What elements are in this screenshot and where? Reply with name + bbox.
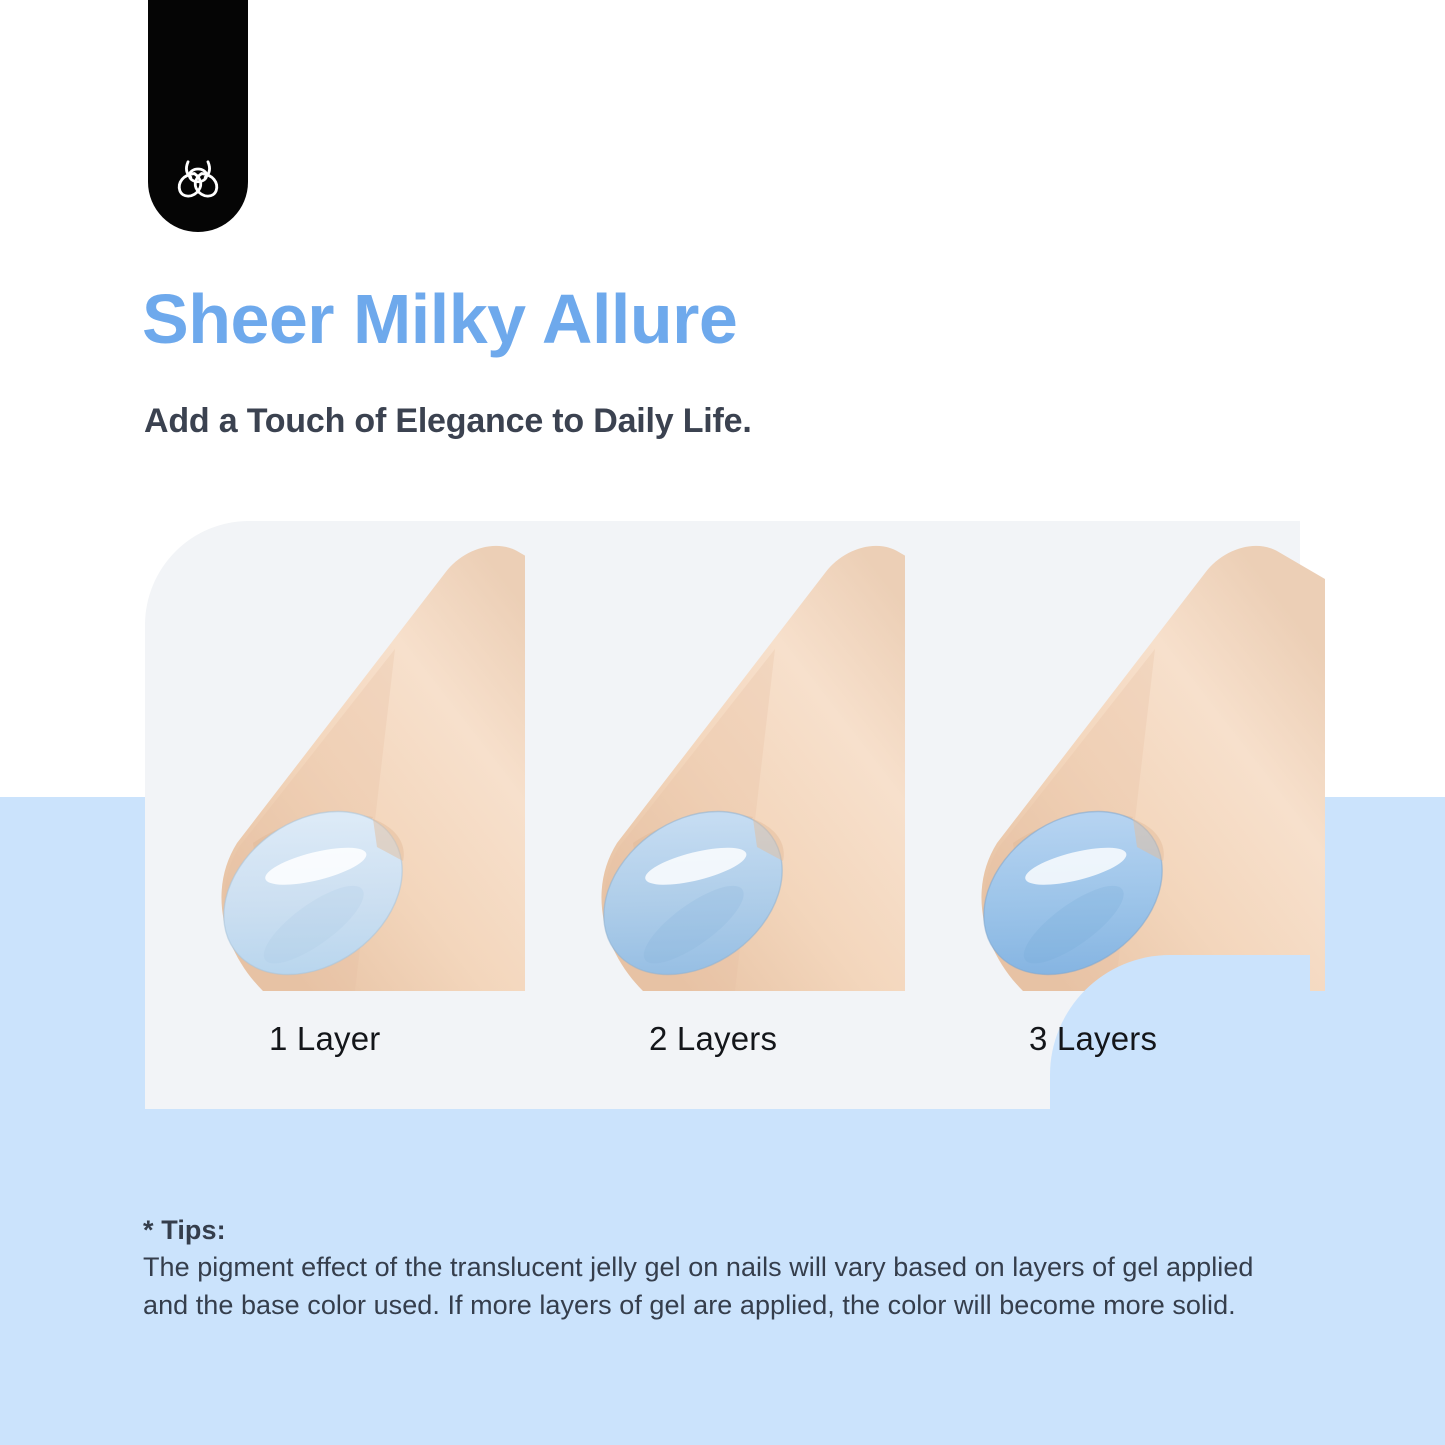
page-subtitle: Add a Touch of Elegance to Daily Life. <box>144 404 752 438</box>
caption-row: 1 Layer 2 Layers 3 Layers <box>145 1022 1300 1082</box>
swatch-item <box>905 521 1325 991</box>
page-title: Sheer Milky Allure <box>142 284 737 354</box>
tips-block: * Tips: The pigment effect of the transl… <box>143 1213 1273 1325</box>
caption-2-layers: 2 Layers <box>525 1022 905 1082</box>
swatch-item <box>525 521 905 991</box>
caption-1-layer: 1 Layer <box>145 1022 525 1082</box>
swatch-row <box>145 521 1325 991</box>
finger-photo-3-layers <box>905 521 1325 991</box>
swatch-item <box>145 521 525 991</box>
bee-logo-icon <box>169 150 227 208</box>
tips-heading: * Tips: <box>143 1213 1273 1248</box>
finger-photo-2-layers <box>525 521 905 991</box>
caption-3-layers: 3 Layers <box>905 1022 1285 1082</box>
finger-photo-1-layer <box>145 521 525 991</box>
product-infographic: Sheer Milky Allure Add a Touch of Elegan… <box>0 0 1445 1445</box>
brand-tab <box>148 0 248 232</box>
tips-body: The pigment effect of the translucent je… <box>143 1248 1273 1325</box>
